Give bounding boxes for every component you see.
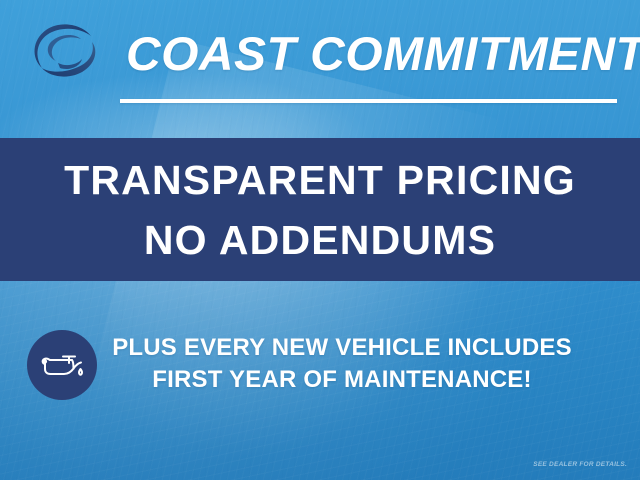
promo-section: PLUS EVERY NEW VEHICLE INCLUDES FIRST YE…: [0, 322, 640, 406]
banner-header: COAST COMMITMENT: [0, 0, 640, 138]
coast-commitment-banner: COAST COMMITMENT TRANSPARENT PRICING NO …: [0, 0, 640, 480]
promo-text-block: PLUS EVERY NEW VEHICLE INCLUDES FIRST YE…: [112, 322, 572, 406]
oil-can-icon: [27, 330, 97, 400]
header-divider: [120, 99, 617, 103]
headline-band: TRANSPARENT PRICING NO ADDENDUMS: [0, 138, 640, 281]
coast-wave-logo-icon: [22, 16, 106, 84]
headline-no-addendums: NO ADDENDUMS: [144, 214, 496, 266]
promo-line-2: FIRST YEAR OF MAINTENANCE!: [152, 364, 531, 396]
headline-transparent-pricing: TRANSPARENT PRICING: [64, 154, 576, 206]
page-title: COAST COMMITMENT: [126, 24, 632, 84]
disclaimer-text: SEE DEALER FOR DETAILS.: [533, 461, 627, 468]
promo-line-1: PLUS EVERY NEW VEHICLE INCLUDES: [112, 332, 572, 364]
